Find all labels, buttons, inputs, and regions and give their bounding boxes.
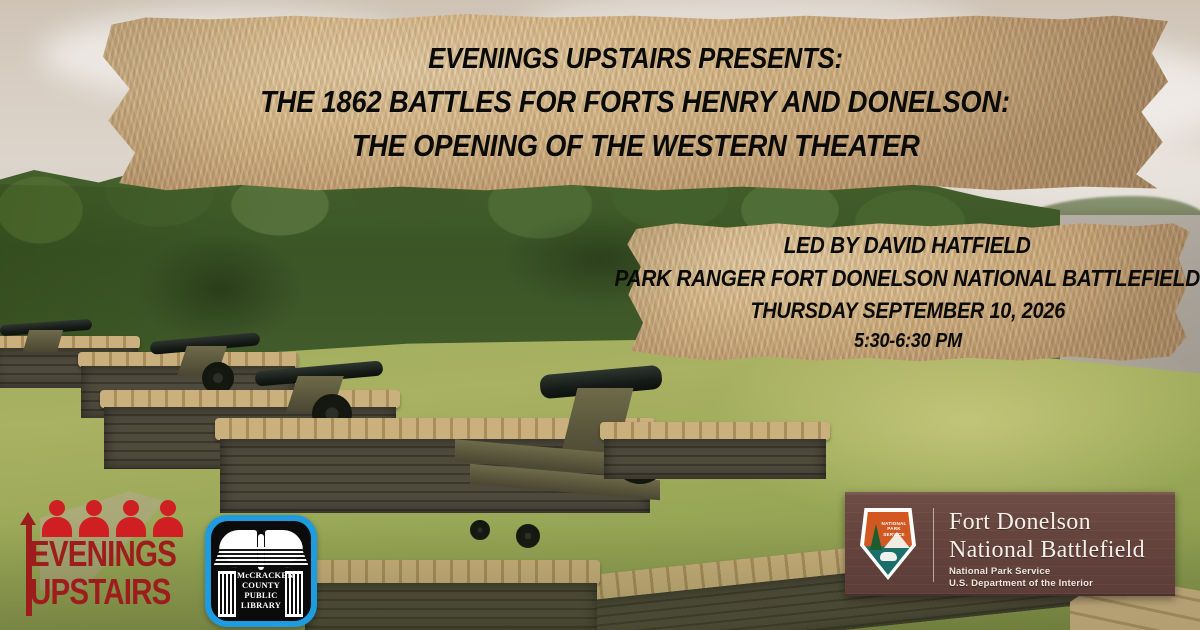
nps-sign-subtitle: National Park Service U.S. Department of… — [949, 566, 1093, 589]
evenings-upstairs-logo: Evenings Upstairs — [18, 500, 198, 622]
headline-line-3: The Opening of the Western Theater — [352, 128, 920, 164]
evenings-upstairs-word-1: Evenings — [30, 536, 176, 572]
sandbag-wall — [100, 390, 400, 408]
arrowhead-label: NATIONAL PARK SERVICE — [877, 521, 911, 537]
evenings-upstairs-word-2: Upstairs — [30, 574, 171, 610]
headline-line-2: The 1862 Battles for Forts Henry and Don… — [261, 84, 1011, 120]
event-date: Thursday September 10, 2026 — [750, 298, 1065, 324]
library-name-line-2: COUNTY — [237, 580, 285, 590]
presenter-name: Led by David Hatfield — [784, 232, 1031, 259]
library-logo-field: McCRACKEN COUNTY PUBLIC LIBRARY — [211, 521, 311, 621]
nps-sign-title: Fort Donelson National Battlefield — [949, 508, 1145, 564]
event-details-block: Led by David Hatfield Park Ranger Fort D… — [625, 222, 1190, 362]
column-icon — [218, 571, 236, 617]
nps-sub-line-2: U.S. Department of the Interior — [949, 578, 1093, 590]
bison-icon — [880, 552, 897, 561]
presenter-title: Park Ranger Fort Donelson National Battl… — [615, 265, 1200, 292]
book-pages-fan — [213, 547, 309, 567]
fort-donelson-nps-sign: NATIONAL PARK SERVICE Fort Donelson Nati… — [845, 492, 1175, 596]
nps-title-line-2: National Battlefield — [949, 536, 1145, 564]
arrowhead-interior: NATIONAL PARK SERVICE — [864, 512, 912, 575]
person-head — [123, 500, 139, 516]
vertical-divider — [933, 508, 934, 582]
person-head — [160, 500, 176, 516]
nps-title-line-1: Fort Donelson — [949, 508, 1145, 536]
mccracken-county-public-library-logo: McCRACKEN COUNTY PUBLIC LIBRARY — [205, 515, 317, 627]
library-name-line-1: McCRACKEN — [237, 570, 285, 580]
event-time: 5:30-6:30 PM — [854, 330, 962, 353]
person-head — [49, 500, 65, 516]
event-poster: Evenings Upstairs Presents: The 1862 Bat… — [0, 0, 1200, 630]
headline-line-1: Evenings Upstairs Presents: — [428, 43, 843, 76]
sandbag-wall — [600, 422, 830, 440]
earthwork-battery — [600, 422, 830, 492]
library-name-line-4: LIBRARY — [237, 600, 285, 610]
cannon-carriage — [23, 330, 63, 352]
library-name-line-3: PUBLIC — [237, 590, 285, 600]
nps-arrowhead-icon: NATIONAL PARK SERVICE — [860, 508, 916, 580]
timber-revetment — [604, 439, 826, 479]
library-logo-text: McCRACKEN COUNTY PUBLIC LIBRARY — [237, 570, 285, 610]
person-head — [86, 500, 102, 516]
nps-sub-line-1: National Park Service — [949, 566, 1093, 578]
headline-block: Evenings Upstairs Presents: The 1862 Bat… — [103, 14, 1168, 192]
